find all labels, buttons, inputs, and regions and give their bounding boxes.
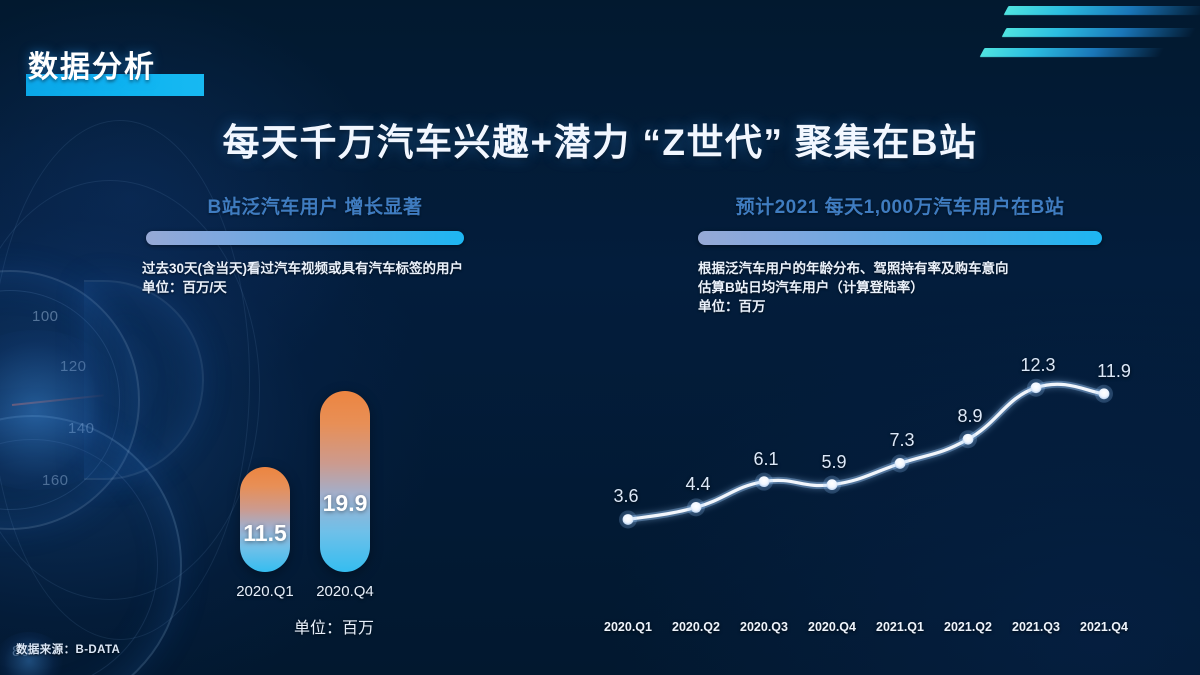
data-point-marker[interactable] — [759, 476, 770, 487]
bar-chart: 11.519.9 单位：百万 2020.Q12020.Q4 — [214, 350, 414, 640]
data-point-marker[interactable] — [1099, 388, 1110, 399]
panel-right: 预计2021 每天1,000万汽车用户在B站 根据泛汽车用户的年龄分布、驾照持有… — [690, 192, 1110, 316]
streak-line-1 — [1004, 6, 1200, 15]
gauge-ticks — [0, 417, 180, 675]
data-point-marker[interactable] — [691, 502, 702, 513]
data-point-marker[interactable] — [963, 434, 974, 445]
data-point-value-label: 5.9 — [821, 452, 846, 473]
gauge-number: 140 — [68, 420, 95, 437]
x-axis-label: 2021.Q4 — [1080, 620, 1128, 634]
data-source-note: 数据来源：B-DATA — [16, 641, 120, 657]
streak-line-3 — [980, 48, 1165, 57]
panel-right-desc-line-3: 单位：百万 — [698, 297, 1110, 316]
bar-value-label: 11.5 — [243, 520, 287, 547]
panel-right-description: 根据泛汽车用户的年龄分布、驾照持有率及购车意向 估算B站日均汽车用户（计算登陆率… — [698, 259, 1110, 316]
panel-left-desc-line-1: 过去30天(含当天)看过汽车视频或具有汽车标签的用户 — [142, 259, 480, 278]
bar-chart-plot-area: 11.519.9 — [214, 372, 414, 572]
bar[interactable]: 19.9 — [320, 391, 370, 572]
streak-line-2 — [1002, 28, 1197, 37]
x-axis-label: 2021.Q2 — [944, 620, 992, 634]
gauge-ticks — [0, 272, 138, 528]
gauge-needle — [12, 394, 104, 406]
panel-left: B站泛汽车用户 增长显著 过去30天(含当天)看过汽车视频或具有汽车标签的用户 … — [140, 192, 480, 297]
data-point-value-label: 3.6 — [613, 486, 638, 507]
x-axis-label: 2020.Q3 — [740, 620, 788, 634]
x-axis-label: 2021.Q1 — [876, 620, 924, 634]
panel-left-heading: B站泛汽车用户 增长显著 — [150, 192, 480, 219]
panel-right-desc-line-2: 估算B站日均汽车用户（计算登陆率） — [698, 278, 1110, 297]
eyebrow-label: 数据分析 — [16, 42, 168, 86]
x-axis-label: 2020.Q2 — [672, 620, 720, 634]
panel-left-divider — [146, 231, 464, 245]
panel-left-description: 过去30天(含当天)看过汽车视频或具有汽车标签的用户 单位：百万/天 — [142, 259, 480, 297]
bar-value-label: 19.9 — [323, 490, 368, 517]
line-chart-svg — [596, 336, 1166, 636]
data-point-marker[interactable] — [623, 514, 634, 525]
data-point-marker[interactable] — [1031, 382, 1042, 393]
x-axis-label: 2020.Q1 — [604, 620, 652, 634]
data-point-value-label: 11.9 — [1097, 361, 1131, 382]
panel-right-desc-line-1: 根据泛汽车用户的年龄分布、驾照持有率及购车意向 — [698, 259, 1110, 278]
panel-right-divider — [698, 231, 1102, 245]
gauge-number: 100 — [32, 308, 59, 325]
corner-streaks-decoration — [940, 0, 1200, 90]
line-chart: 3.62020.Q14.42020.Q26.12020.Q35.92020.Q4… — [596, 336, 1166, 636]
gauge-arc-segment — [84, 280, 204, 480]
slide-root: 100 120 140 160 80 60 40 20 0 数据分析 每天千万汽… — [0, 0, 1200, 675]
page-title: 每天千万汽车兴趣+潜力 “Z世代” 聚集在B站 — [0, 112, 1200, 166]
data-point-value-label: 4.4 — [685, 474, 710, 495]
gauge-number: 120 — [60, 358, 87, 375]
bar[interactable]: 11.5 — [240, 467, 290, 572]
panel-left-desc-line-2: 单位：百万/天 — [142, 278, 480, 297]
x-axis-label: 2020.Q4 — [808, 620, 856, 634]
gauge-number: 160 — [42, 472, 69, 489]
panel-right-heading: 预计2021 每天1,000万汽车用户在B站 — [690, 192, 1110, 219]
section-eyebrow: 数据分析 — [16, 42, 168, 86]
data-point-value-label: 8.9 — [957, 406, 982, 427]
left-blue-glow — [0, 330, 130, 490]
data-point-value-label: 6.1 — [753, 449, 778, 470]
data-point-marker[interactable] — [895, 458, 906, 469]
bar-column[interactable]: 11.5 — [240, 467, 290, 572]
data-point-marker[interactable] — [827, 479, 838, 490]
bar-chart-unit-label: 单位：百万 — [234, 614, 434, 638]
data-point-value-label: 12.3 — [1020, 355, 1055, 376]
x-axis-label: 2021.Q3 — [1012, 620, 1060, 634]
speedometer-gauge-lower-icon: 80 60 40 20 0 — [0, 415, 182, 675]
bar-category-label: 2020.Q4 — [295, 583, 395, 600]
data-point-value-label: 7.3 — [889, 430, 914, 451]
bar-column[interactable]: 19.9 — [320, 391, 370, 572]
speedometer-gauge-upper-icon: 100 120 140 160 — [0, 270, 140, 530]
